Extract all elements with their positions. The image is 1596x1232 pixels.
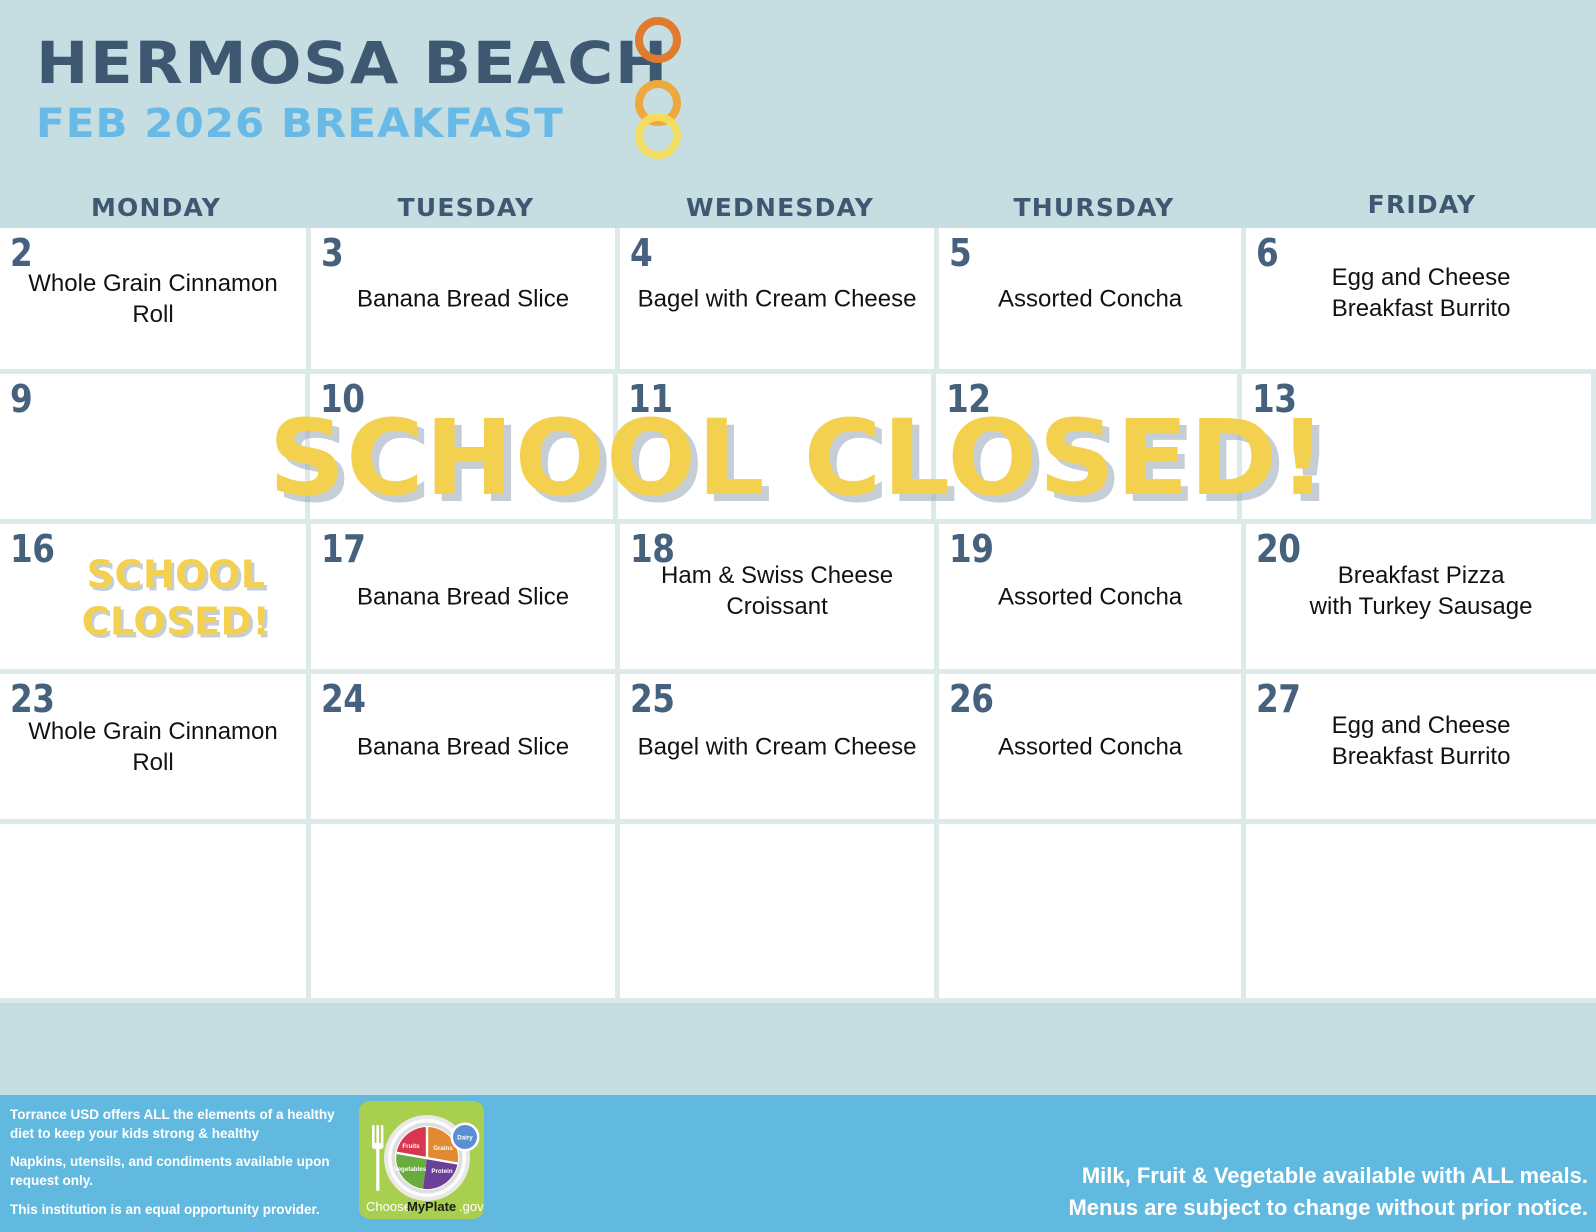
calendar-day-cell[interactable] [1246,824,1596,998]
calendar-week-row: 16 SCHOOLCLOSED! 17 Banana Bread Slice 1… [0,524,1596,674]
weekday-header-row: MONDAY TUESDAY WEDNESDAY THURSDAY FRIDAY [0,186,1596,228]
menu-subtitle: FEB 2026 BREAKFAST [36,104,651,144]
calendar-day-cell[interactable]: 4 Bagel with Cream Cheese [620,228,934,369]
calendar-day-cell[interactable] [0,824,306,998]
day-number: 10 [320,380,365,418]
footer-notice-block: Torrance USD offers ALL the elements of … [10,1105,340,1219]
day-number: 23 [10,680,55,718]
calendar-week-row: 23 Whole Grain Cinnamon Roll 24 Banana B… [0,674,1596,824]
myplate-wordmark-prefix: Choose [366,1199,411,1214]
calendar-grid: 2 Whole Grain Cinnamon Roll 3 Banana Bre… [0,228,1596,1003]
calendar-day-cell[interactable]: 25 Bagel with Cream Cheese [620,674,934,819]
menu-item-text: Breakfast Pizzawith Turkey Sausage [1252,560,1590,622]
weekday-label: FRIDAY [1368,190,1477,219]
myplate-logo-icon: Fruits Grains Vegetables Protein Dairy C… [359,1101,484,1219]
myplate-wordmark-brand: MyPlate [407,1199,456,1214]
menu-item-text: Egg and CheeseBreakfast Burrito [1252,262,1590,324]
calendar-day-cell[interactable] [311,824,615,998]
menu-item-text: Whole Grain Cinnamon Roll [6,715,300,777]
calendar-day-cell[interactable]: 26 Assorted Concha [939,674,1241,819]
calendar-day-cell[interactable]: 20 Breakfast Pizzawith Turkey Sausage [1246,524,1596,669]
day-number: 2 [10,234,32,272]
day-number: 24 [321,680,366,718]
weekday-header-monday: MONDAY [0,186,312,228]
day-number: 25 [630,680,675,718]
menu-item-text: Assorted Concha [945,731,1235,762]
calendar-day-cell[interactable]: 9 [0,374,305,519]
myplate-segment-label: Grains [433,1145,453,1152]
calendar-day-cell[interactable]: 19 Assorted Concha [939,524,1241,669]
weekday-header-tuesday: TUESDAY [312,186,620,228]
menu-item-text: Assorted Concha [945,283,1235,314]
weekday-label: TUESDAY [398,193,535,222]
calendar-week-row: 9 10 11 12 13 SCHOOL CLOSED! [0,374,1596,524]
calendar-day-cell[interactable]: 5 Assorted Concha [939,228,1241,369]
calendar-day-cell[interactable]: 18 Ham & Swiss CheeseCroissant [620,524,934,669]
calendar-day-cell[interactable]: 6 Egg and CheeseBreakfast Burrito [1246,228,1596,369]
myplate-segment-label: Protein [431,1168,453,1175]
weekday-label: WEDNESDAY [686,193,874,222]
footer-notice-line: This institution is an equal opportunity… [10,1200,340,1219]
calendar-day-cell[interactable]: 23 Whole Grain Cinnamon Roll [0,674,306,819]
calendar-week-row: 2 Whole Grain Cinnamon Roll 3 Banana Bre… [0,228,1596,374]
calendar-day-cell[interactable] [620,824,934,998]
day-number: 26 [949,680,994,718]
myplate-wordmark-suffix: .gov [459,1199,484,1214]
page-footer: Torrance USD offers ALL the elements of … [0,1095,1596,1232]
weekday-header-friday: FRIDAY [1248,186,1596,228]
footer-notice-line: Torrance USD offers ALL the elements of … [10,1105,340,1143]
weekday-header-wednesday: WEDNESDAY [620,186,940,228]
day-number: 9 [10,380,32,418]
calendar-day-cell[interactable]: 17 Banana Bread Slice [311,524,615,669]
myplate-segment-label: Fruits [402,1143,420,1150]
day-number: 13 [1252,380,1297,418]
calendar-day-cell[interactable] [939,824,1241,998]
menu-item-text: Banana Bread Slice [317,731,609,762]
calendar-day-cell[interactable]: 13 [1242,374,1591,519]
day-number: 3 [321,234,343,272]
day-number: 19 [949,530,994,568]
calendar-day-cell[interactable]: 12 [936,374,1237,519]
calendar-day-cell[interactable]: 24 Banana Bread Slice [311,674,615,819]
calendar-day-cell[interactable]: 3 Banana Bread Slice [311,228,615,369]
day-number: 17 [321,530,366,568]
calendar-day-cell[interactable]: 27 Egg and CheeseBreakfast Burrito [1246,674,1596,819]
menu-item-text: Bagel with Cream Cheese [626,731,928,762]
school-closed-small-text: SCHOOLCLOSED! [52,551,300,646]
menu-item-text: Banana Bread Slice [317,581,609,612]
calendar-day-cell[interactable]: 16 SCHOOLCLOSED! [0,524,306,669]
day-number: 4 [630,234,652,272]
day-number: 16 [10,530,55,568]
calendar-day-cell[interactable]: 11 [618,374,931,519]
weekday-label: MONDAY [91,193,221,222]
day-number: 12 [946,380,991,418]
menu-item-text: Whole Grain Cinnamon Roll [6,267,300,329]
footer-notice-line: Napkins, utensils, and condiments availa… [10,1152,340,1190]
footer-meal-notice-line: Menus are subject to change without prio… [1068,1192,1588,1224]
day-number: 5 [949,234,971,272]
menu-item-text: Bagel with Cream Cheese [626,283,928,314]
menu-item-text: Egg and CheeseBreakfast Burrito [1252,710,1590,772]
day-number: 11 [628,380,673,418]
page-header: HERMOSA BEACH FEB 2026 BREAKFAST [0,0,1596,185]
footer-meal-notice-line: Milk, Fruit & Vegetable available with A… [1068,1160,1588,1192]
menu-item-text: Banana Bread Slice [317,283,609,314]
calendar-day-cell[interactable]: 10 [310,374,613,519]
weekday-label: THURSDAY [1014,193,1175,222]
page-title: HERMOSA BEACH [36,34,669,92]
myplate-segment-label: Vegetables [394,1166,427,1173]
calendar-week-row [0,824,1596,1003]
weekday-header-thursday: THURSDAY [940,186,1248,228]
calendar-day-cell[interactable]: 2 Whole Grain Cinnamon Roll [0,228,306,369]
footer-meal-notice-block: Milk, Fruit & Vegetable available with A… [1068,1160,1588,1224]
menu-item-text: Ham & Swiss CheeseCroissant [626,560,928,622]
rings-logo-icon [620,14,696,164]
title-block: HERMOSA BEACH FEB 2026 BREAKFAST [36,34,622,144]
menu-item-text: Assorted Concha [945,581,1235,612]
myplate-segment-label: Dairy [457,1134,473,1141]
